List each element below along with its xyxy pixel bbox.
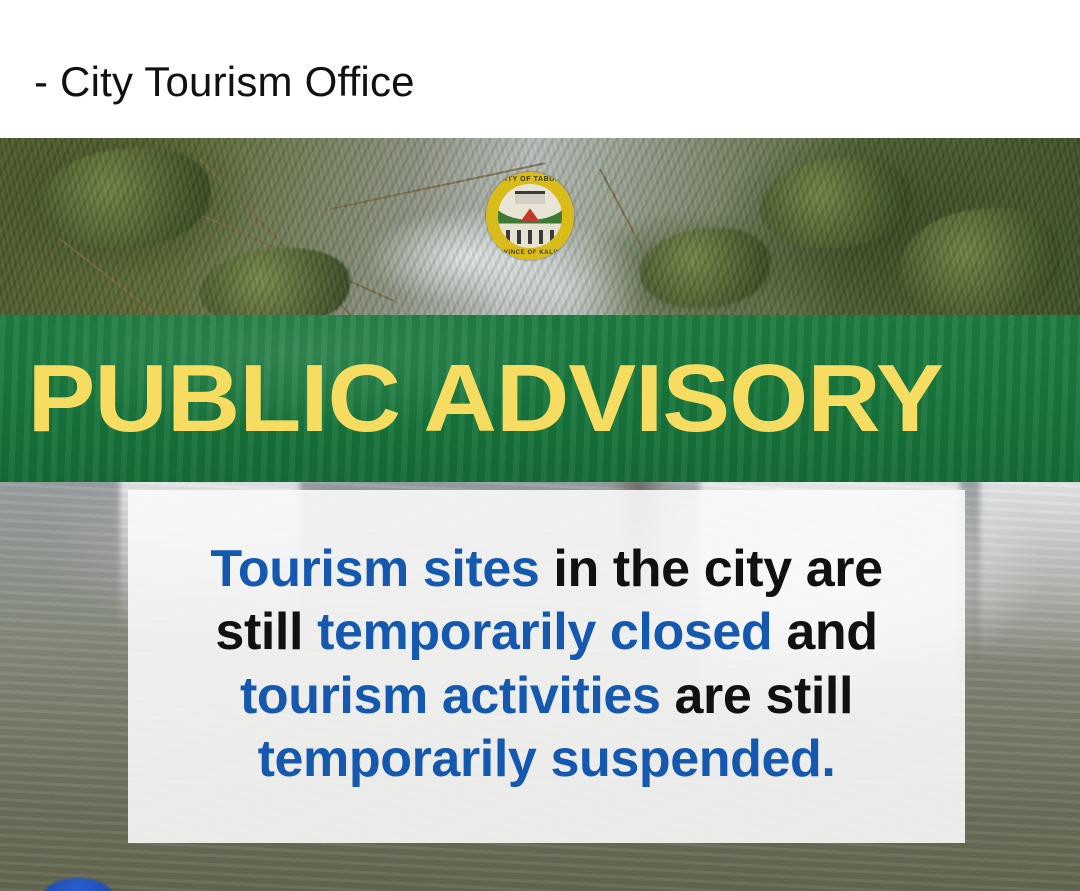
seal-text-bottom: PROVINCE OF KALINGA xyxy=(486,250,574,256)
message-highlight-run: temporarily suspended. xyxy=(258,730,836,788)
message-line: temporarily suspended. xyxy=(258,728,836,791)
message-body-run: are still xyxy=(660,667,853,725)
message-line: tourism activities are still xyxy=(240,665,853,728)
message-highlight-run: Tourism sites xyxy=(210,540,539,598)
message-body-run: still xyxy=(215,603,317,661)
seal-figures-icon xyxy=(506,230,554,244)
message-highlight-run: temporarily closed xyxy=(317,603,772,661)
message-line: Tourism sites in the city are xyxy=(210,538,882,601)
seal-emblem xyxy=(498,184,561,247)
message-highlight-run: tourism activities xyxy=(240,667,661,725)
caption-text: - City Tourism Office xyxy=(34,58,415,106)
caption-band: - City Tourism Office xyxy=(0,0,1080,138)
banner-title: PUBLIC ADVISORY xyxy=(0,351,1080,447)
message-line: still temporarily closed and xyxy=(215,601,877,664)
seal-mountain-icon xyxy=(520,208,540,222)
city-of-tabuk-seal: CITY OF TABUK PROVINCE OF KALINGA xyxy=(486,172,574,260)
message-body-run: and xyxy=(772,603,877,661)
message-body-run: in the city are xyxy=(539,540,882,598)
public-advisory-poster: CITY OF TABUK PROVINCE OF KALINGA PUBLIC… xyxy=(0,0,1080,891)
advisory-message-card: Tourism sites in the city are still temp… xyxy=(128,490,965,843)
seal-building-icon xyxy=(515,191,545,204)
advisory-banner: PUBLIC ADVISORY xyxy=(0,315,1080,482)
seal-text-top: CITY OF TABUK xyxy=(486,176,574,183)
